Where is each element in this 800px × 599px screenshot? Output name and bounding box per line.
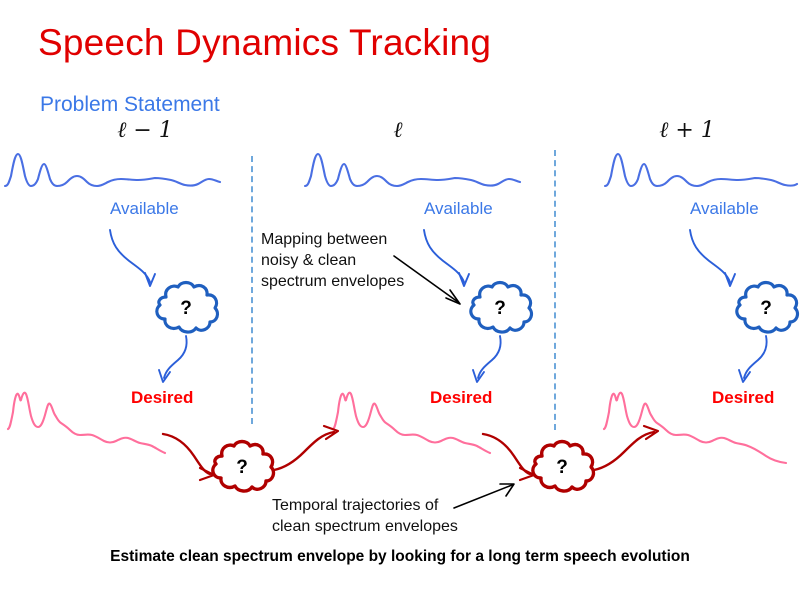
available-label-prev: Available [110,199,179,219]
desired-label-next: Desired [712,388,774,408]
arrow-cloud-to-desired-current [470,334,520,386]
arrow-cloud-to-desired-next [736,334,786,386]
arrow-trajectory-out-left [272,424,344,476]
desired-label-current: Desired [430,388,492,408]
noisy-spectrum-curve-current [300,148,540,196]
arrow-trajectory-out-right [592,424,664,476]
available-label-next: Available [690,199,759,219]
noisy-spectrum-curve-prev [0,148,240,196]
red-cloud-right[interactable]: ? [522,440,602,498]
slide-caption: Estimate clean spectrum envelope by look… [0,548,800,566]
cloud-question-mark-prev: ? [180,298,192,319]
frame-label-next: ℓ + 1 [637,117,737,143]
slide-canvas: Speech Dynamics Tracking Problem Stateme… [0,0,800,599]
cloud-question-mark-current: ? [494,298,506,319]
cloud-question-mark-next: ? [760,298,772,319]
frame-label-current: ℓ [348,117,448,143]
frame-label-prev: ℓ − 1 [95,117,195,143]
desired-label-prev: Desired [131,388,193,408]
red-cloud-question-mark-right: ? [556,457,568,478]
red-cloud-left[interactable]: ? [202,440,282,498]
arrow-mapping-annotation [392,254,472,310]
available-label-current: Available [424,199,493,219]
slide-subtitle: Problem Statement [40,93,220,117]
annotation-temporal: Temporal trajectories of clean spectrum … [272,495,458,537]
column-divider-left [251,156,253,424]
column-divider-right [554,150,556,430]
page-title: Speech Dynamics Tracking [38,22,491,64]
arrow-cloud-to-desired-prev [156,334,206,386]
annotation-mapping: Mapping between noisy & clean spectrum e… [261,229,404,292]
arrow-temporal-annotation [452,482,522,512]
red-cloud-question-mark-left: ? [236,457,248,478]
noisy-spectrum-curve-next [600,148,800,196]
